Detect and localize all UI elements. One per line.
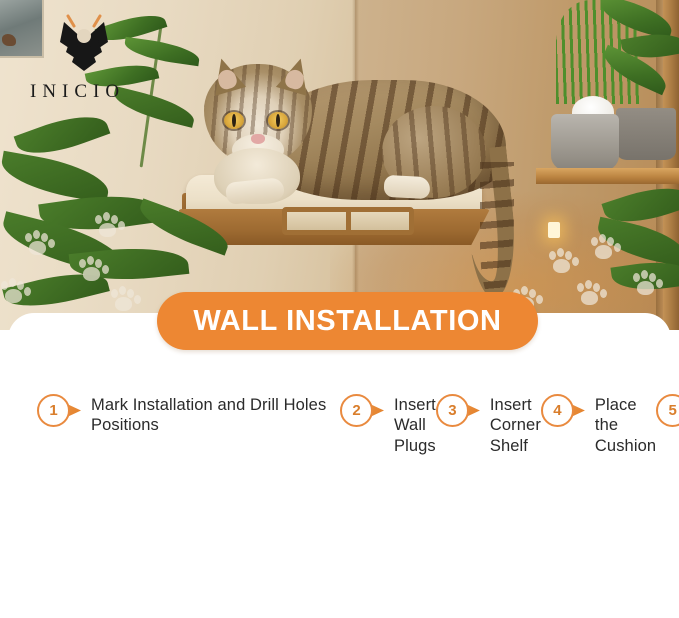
step-number-badge: 5 [656, 394, 679, 427]
step-item-4: 4 Place the Cushion [541, 392, 656, 442]
step-label: Insert Wall Plugs [394, 395, 436, 456]
step-number-badge: 2 [340, 394, 384, 427]
step-number: 1 [49, 403, 57, 418]
cat-illustration [196, 52, 516, 222]
step-number-badge: 4 [541, 394, 585, 427]
badge-ring: 3 [436, 394, 469, 427]
step-number: 3 [448, 403, 456, 418]
step-number: 2 [352, 403, 360, 418]
step-number-badge: 1 [37, 394, 81, 427]
cat-ear-left [206, 54, 246, 96]
step-item-5: 5 Mark Installation Position for Steps [656, 392, 679, 442]
wall-installation-banner: WALL INSTALLATION [157, 292, 538, 350]
plant-pot-secondary [616, 108, 676, 160]
badge-ring: 2 [340, 394, 373, 427]
badge-ring: 4 [541, 394, 574, 427]
chevron-bee-icon [30, 14, 138, 72]
cat-paw-rear [383, 175, 430, 199]
step-item-2: 2 Insert Wall Plugs [340, 392, 436, 442]
step-number-badge: 3 [436, 394, 480, 427]
step-item-1: 1 Mark Installation and Drill Holes Posi… [37, 392, 340, 442]
step-number: 5 [668, 403, 676, 418]
hero-photo: INICIO [0, 0, 679, 330]
candle-icon [548, 222, 560, 238]
badge-ring: 1 [37, 394, 70, 427]
installation-steps-list: 1 Mark Installation and Drill Holes Posi… [8, 392, 671, 618]
right-wooden-shelf [536, 168, 679, 184]
step-label: Insert Corner Shelf [490, 395, 541, 456]
cat-eye-right [268, 112, 288, 129]
plant-pot-primary [551, 114, 619, 172]
step-label: Place the Cushion [595, 395, 656, 456]
cat-nose [251, 134, 265, 144]
brand-logo: INICIO [30, 14, 138, 98]
badge-ring: 5 [656, 394, 679, 427]
step-label: Mark Installation and Drill Holes Positi… [91, 395, 340, 436]
cat-eye-left [224, 112, 244, 129]
cat-ear-right [276, 54, 316, 96]
brand-logo-text: INICIO [30, 81, 138, 103]
step-item-3: 3 Insert Corner Shelf [436, 392, 541, 442]
banner-title: WALL INSTALLATION [193, 305, 501, 338]
step-number: 4 [553, 403, 561, 418]
